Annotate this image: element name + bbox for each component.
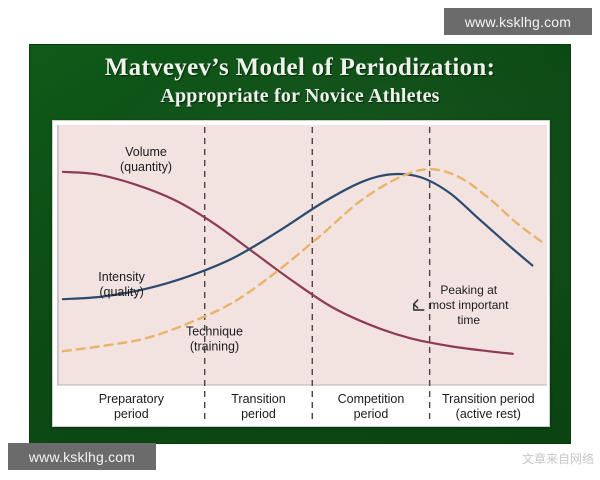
phase-sublabel-2: period [241, 407, 276, 421]
phase-label-2: Transition [231, 392, 285, 406]
annotation-peaking-annotation-line3: time [457, 313, 480, 327]
series-sublabel-3: (training) [190, 340, 239, 354]
periodization-chart: Volume(quantity)Intensity(quality)Techni… [53, 121, 551, 428]
series-label-1: Volume [125, 145, 167, 159]
chart-container: Volume(quantity)Intensity(quality)Techni… [52, 120, 550, 427]
series-sublabel-1: (quantity) [120, 160, 172, 174]
phase-sublabel-1: period [114, 407, 149, 421]
watermark-top-right: www.ksklhg.com [444, 8, 592, 35]
series-label-2: Intensity [98, 270, 145, 284]
watermark-bottom-left: www.ksklhg.com [8, 443, 156, 470]
overlay-stamp-watermark: 文章来自网络 [522, 450, 600, 480]
phase-label-1: Preparatory [99, 392, 165, 406]
phase-label-3: Competition [338, 392, 405, 406]
page-subtitle: Appropriate for Novice Athletes [30, 83, 570, 109]
series-label-3: Technique [186, 325, 243, 339]
page-title: Matveyev’s Model of Periodization: [30, 53, 570, 83]
series-sublabel-2: (quality) [99, 285, 143, 299]
annotation-peaking-annotation-line2: most important [429, 298, 509, 312]
slide-title-block: Matveyev’s Model of Periodization: Appro… [30, 53, 570, 109]
phase-label-4: Transition period [442, 392, 535, 406]
screenshot-root: Matveyev’s Model of Periodization: Appro… [0, 0, 600, 480]
presentation-slide: Matveyev’s Model of Periodization: Appro… [29, 44, 571, 444]
annotation-peaking-annotation-line1: Peaking at [440, 283, 497, 297]
phase-sublabel-3: period [354, 407, 389, 421]
phase-sublabel-4: (active rest) [456, 407, 521, 421]
